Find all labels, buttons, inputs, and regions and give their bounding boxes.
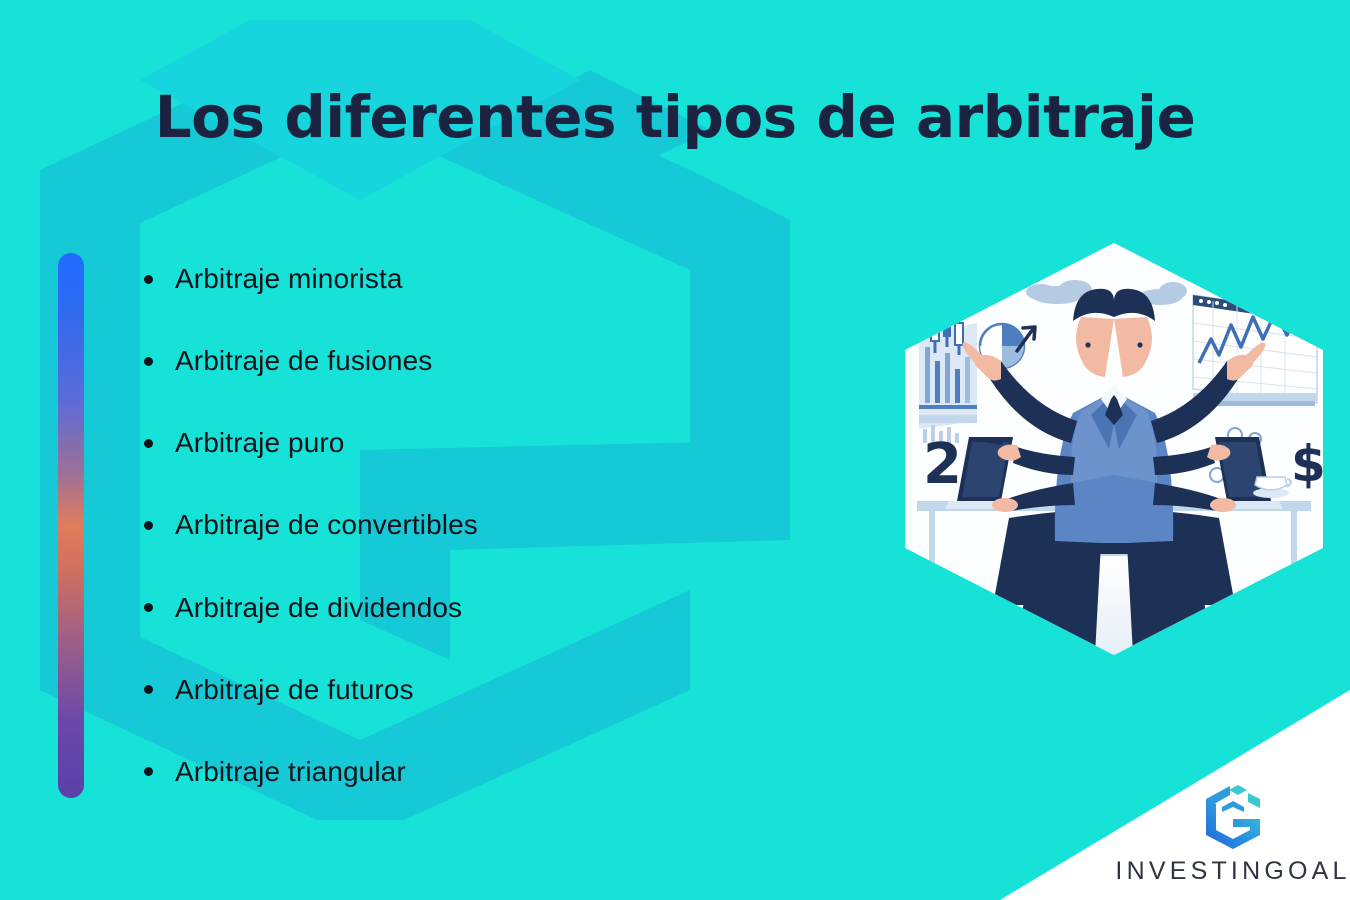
svg-text:$: $ (1291, 435, 1323, 493)
investingoal-hexagon-ig-icon (1202, 783, 1264, 851)
investingoal-logo[interactable]: INVESTINGOAL (1128, 783, 1338, 886)
list-item: Arbitraje de futuros (144, 674, 818, 706)
list-item: Arbitraje de dividendos (144, 592, 818, 624)
bullet-dot-icon (144, 357, 153, 366)
bullet-dot-icon (144, 767, 153, 776)
list-item: Arbitraje minorista (144, 263, 818, 295)
list-item-label: Arbitraje de fusiones (175, 345, 432, 377)
list-item-label: Arbitraje de convertibles (175, 509, 478, 541)
slide-canvas: Los diferentes tipos de arbitraje Arbitr… (0, 0, 1350, 900)
list-item-label: Arbitraje minorista (175, 263, 403, 295)
bullet-dot-icon (144, 275, 153, 284)
bullet-list: Arbitraje minorista Arbitraje de fusione… (84, 253, 818, 798)
gradient-accent-bar (58, 253, 84, 798)
list-item: Arbitraje de convertibles (144, 509, 818, 541)
bullet-dot-icon (144, 439, 153, 448)
logo-wordmark: INVESTINGOAL (1115, 857, 1350, 886)
illustration-hexagon-mask: 2 $ $ (905, 243, 1323, 655)
svg-text:2: 2 (923, 432, 962, 497)
page-title: Los diferentes tipos de arbitraje (0, 86, 1350, 150)
list-item-label: Arbitraje de dividendos (175, 592, 462, 624)
list-item-label: Arbitraje triangular (175, 756, 406, 788)
bullet-dot-icon (144, 685, 153, 694)
bullet-dot-icon (144, 521, 153, 530)
list-item-label: Arbitraje puro (175, 427, 344, 459)
arbitrage-types-list: Arbitraje minorista Arbitraje de fusione… (58, 253, 818, 798)
list-item: Arbitraje puro (144, 427, 818, 459)
list-item: Arbitraje de fusiones (144, 345, 818, 377)
list-item-label: Arbitraje de futuros (175, 674, 414, 706)
two-businessmen-trading-illustration: 2 $ $ (905, 243, 1323, 655)
list-item: Arbitraje triangular (144, 756, 818, 788)
bullet-dot-icon (144, 603, 153, 612)
